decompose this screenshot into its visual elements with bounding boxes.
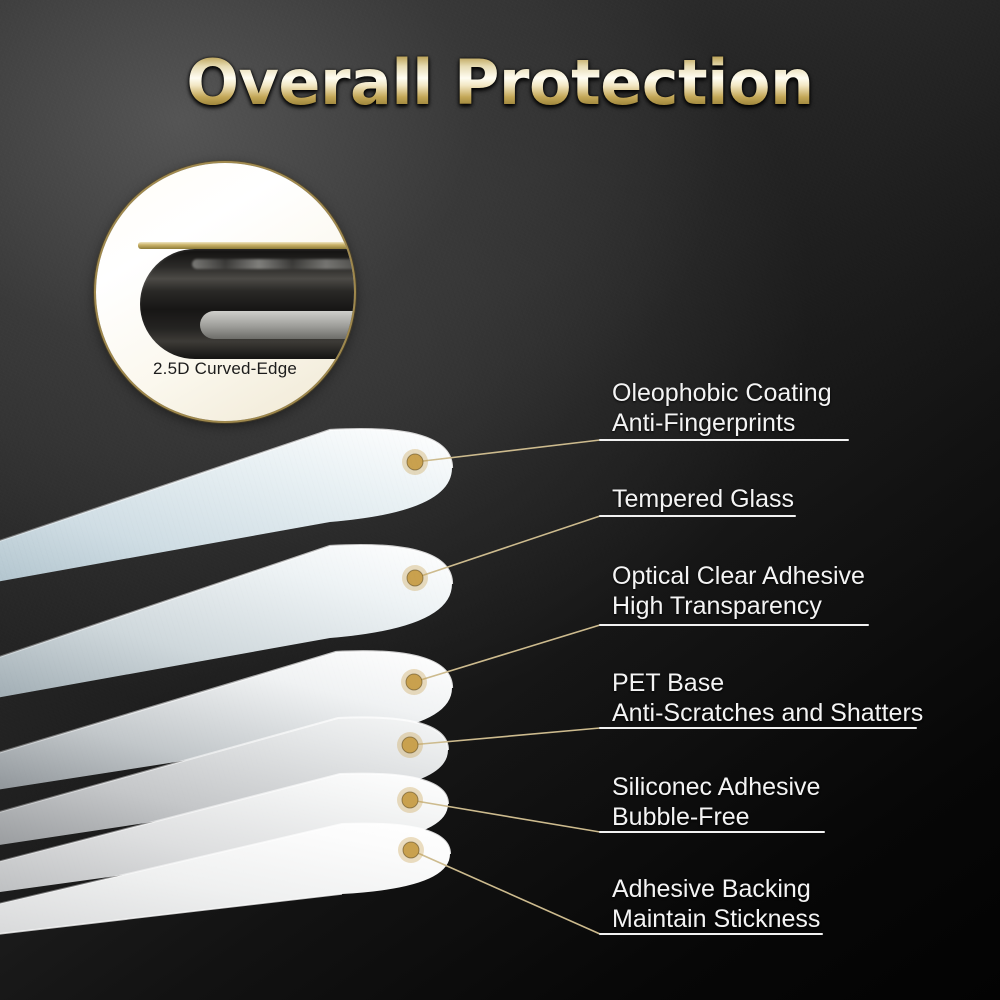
callout-label-oleophobic-line-2: Anti-Fingerprints [612, 408, 832, 438]
connector-dot-tempered [407, 570, 423, 586]
connector-dot-oca [406, 674, 422, 690]
leader-line-pet [410, 728, 600, 745]
infographic-canvas: Overall Protection 2.5D Curved-Edge Oleo… [0, 0, 1000, 1000]
leader-line-silicone [410, 800, 600, 832]
connector-dot-silicone [402, 792, 418, 808]
callout-label-tempered: Tempered Glass [612, 484, 794, 514]
callout-leaders [0, 0, 1000, 1000]
callout-label-pet: PET BaseAnti-Scratches and Shatters [612, 668, 923, 728]
callout-label-backing-line-2: Maintain Stickness [612, 904, 820, 934]
leader-line-oleophobic [415, 440, 600, 462]
inset-coating-strip [138, 242, 354, 249]
callout-label-oleophobic: Oleophobic CoatingAnti-Fingerprints [612, 378, 832, 438]
leader-line-backing [411, 850, 600, 934]
callout-label-pet-line-1: PET Base [612, 668, 923, 698]
connector-dot-oleophobic [407, 454, 423, 470]
inset-caption: 2.5D Curved-Edge [96, 359, 354, 379]
connector-dot-pet [402, 737, 418, 753]
callout-label-silicone: Siliconec AdhesiveBubble-Free [612, 772, 820, 832]
curved-edge-inset: 2.5D Curved-Edge [96, 163, 354, 421]
leader-line-oca [414, 625, 600, 682]
inset-inner-highlight [200, 311, 354, 339]
callout-label-silicone-line-2: Bubble-Free [612, 802, 820, 832]
page-title: Overall Protection [0, 46, 1000, 119]
callout-label-backing: Adhesive BackingMaintain Stickness [612, 874, 820, 934]
callout-label-pet-line-2: Anti-Scratches and Shatters [612, 698, 923, 728]
callout-label-oca-line-1: Optical Clear Adhesive [612, 561, 865, 591]
connector-dot-backing [403, 842, 419, 858]
callout-label-oca: Optical Clear AdhesiveHigh Transparency [612, 561, 865, 621]
callout-label-tempered-line-1: Tempered Glass [612, 484, 794, 514]
callout-label-oca-line-2: High Transparency [612, 591, 865, 621]
inset-sheen-highlight [192, 259, 354, 269]
callout-label-silicone-line-1: Siliconec Adhesive [612, 772, 820, 802]
callout-label-oleophobic-line-1: Oleophobic Coating [612, 378, 832, 408]
callout-label-backing-line-1: Adhesive Backing [612, 874, 820, 904]
leader-line-tempered [415, 516, 600, 578]
